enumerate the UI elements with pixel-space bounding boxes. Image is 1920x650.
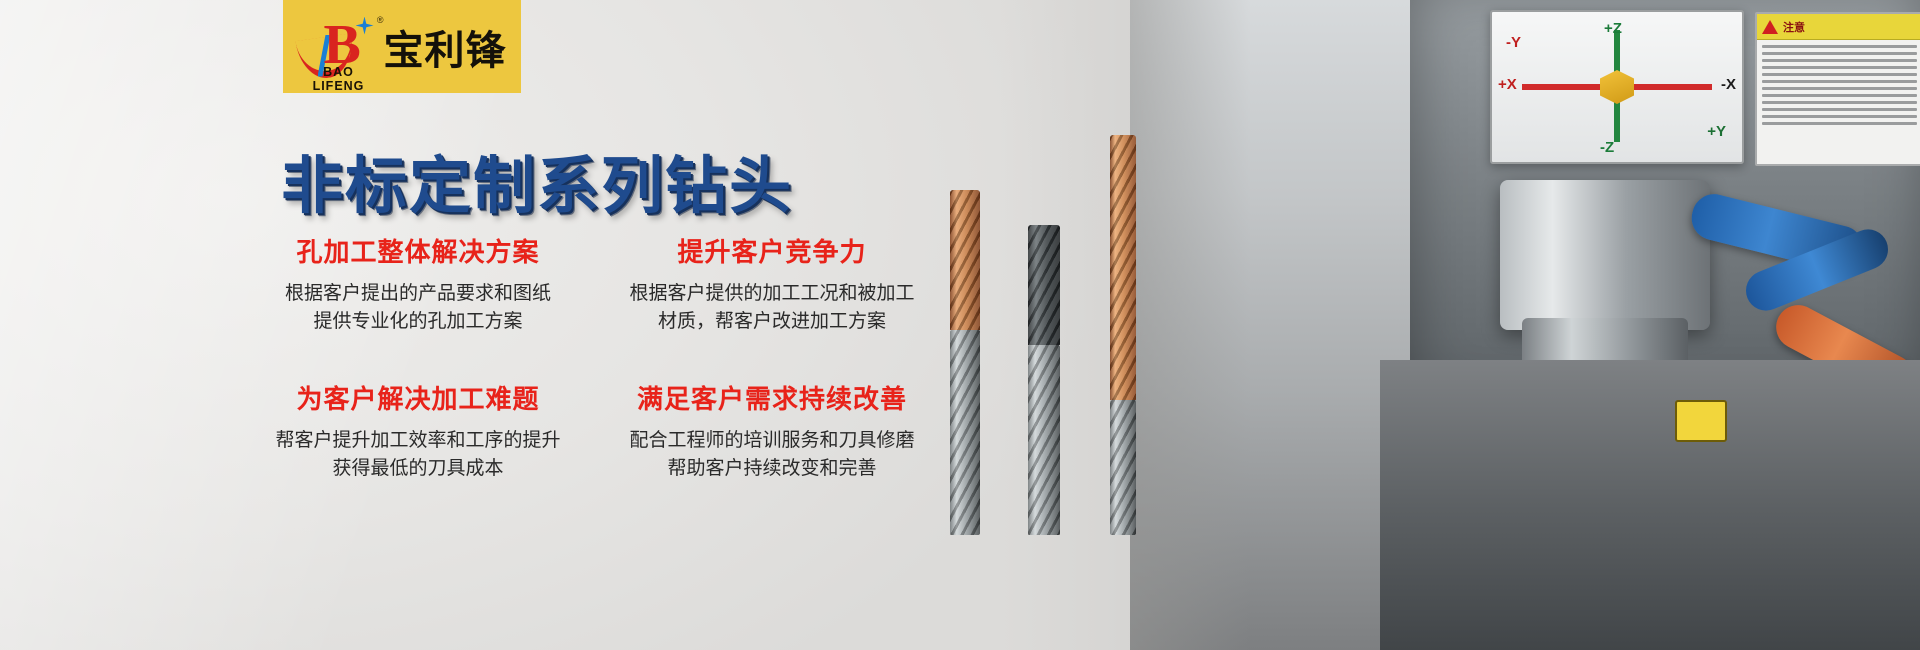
machining-photo: +Z -Z +X -X +Y -Y 注意 [1130, 0, 1920, 650]
feature-body: 配合工程师的培训服务和刀具修磨 帮助客户持续改变和完善 [604, 426, 940, 482]
feature-title: 为客户解决加工难题 [250, 379, 586, 416]
drill-bit-products [950, 95, 1180, 535]
page-title: 非标定制系列钻头 [281, 135, 793, 225]
drill-bit-shank [1028, 345, 1060, 535]
feature-body-line: 帮客户提升加工效率和工序的提升 [250, 426, 586, 454]
logo-mark-icon: B ® BAO LIFENG [298, 15, 376, 79]
feature-block-1: 孔加工整体解决方案 根据客户提出的产品要求和图纸 提供专业化的孔加工方案 [250, 232, 586, 335]
warning-label: 注意 [1783, 19, 1805, 35]
axis-label-x-minus: -X [1721, 76, 1736, 93]
brand-logo[interactable]: B ® BAO LIFENG 宝利锋 [283, 0, 521, 93]
feature-body-line: 根据客户提出的产品要求和图纸 [250, 279, 586, 307]
drill-bit-flute [1110, 135, 1136, 400]
axis-diagram-placard: +Z -Z +X -X +Y -Y [1490, 10, 1744, 164]
feature-block-4: 满足客户需求持续改善 配合工程师的培训服务和刀具修磨 帮助客户持续改变和完善 [604, 379, 940, 482]
feature-body-line: 配合工程师的培训服务和刀具修磨 [604, 426, 940, 454]
hazard-sticker-icon [1675, 400, 1727, 442]
logo-latin-name: BAO LIFENG [300, 65, 378, 93]
feature-body: 根据客户提供的加工工况和被加工 材质，帮客户改进加工方案 [604, 279, 940, 335]
feature-body-line: 获得最低的刀具成本 [250, 454, 586, 482]
axis-label-y-minus: -Y [1506, 34, 1521, 51]
feature-title: 提升客户竞争力 [604, 232, 940, 269]
axis-label-z-minus: -Z [1600, 139, 1614, 156]
product-banner: +Z -Z +X -X +Y -Y 注意 [0, 0, 1920, 650]
spindle-housing [1500, 180, 1710, 330]
drill-bit-flute [1028, 225, 1060, 345]
warning-triangle-icon [1762, 20, 1778, 34]
machine-base [1380, 360, 1920, 650]
feature-title: 满足客户需求持续改善 [604, 379, 940, 416]
drill-bit-flute [950, 190, 980, 330]
axis-label-z-plus: +Z [1604, 20, 1622, 37]
axis-label-y-plus: +Y [1707, 123, 1726, 140]
feature-body: 根据客户提出的产品要求和图纸 提供专业化的孔加工方案 [250, 279, 586, 335]
feature-grid: 孔加工整体解决方案 根据客户提出的产品要求和图纸 提供专业化的孔加工方案 提升客… [250, 232, 940, 482]
logo-chinese-name: 宝利锋 [384, 18, 507, 76]
drill-bit-black [1028, 225, 1060, 535]
feature-body-line: 材质，帮客户改进加工方案 [604, 307, 940, 335]
feature-body-line: 帮助客户持续改变和完善 [604, 454, 940, 482]
drill-bit-copper-short [950, 190, 980, 535]
drill-bit-shank [950, 330, 980, 535]
warning-header: 注意 [1757, 14, 1920, 40]
drill-bit-copper-long [1110, 135, 1136, 535]
drill-bit-shank [1110, 400, 1136, 535]
feature-body: 帮客户提升加工效率和工序的提升 获得最低的刀具成本 [250, 426, 586, 482]
feature-body-line: 根据客户提供的加工工况和被加工 [604, 279, 940, 307]
feature-body-line: 提供专业化的孔加工方案 [250, 307, 586, 335]
axis-label-x-plus: +X [1498, 76, 1517, 93]
registered-trademark-icon: ® [377, 15, 384, 25]
feature-block-2: 提升客户竞争力 根据客户提供的加工工况和被加工 材质，帮客户改进加工方案 [604, 232, 940, 335]
logo-letter: B [324, 19, 361, 71]
axis-hub-icon [1600, 70, 1634, 104]
warning-text-lines [1757, 40, 1920, 134]
warning-placard: 注意 [1755, 12, 1920, 166]
feature-title: 孔加工整体解决方案 [250, 232, 586, 269]
feature-block-3: 为客户解决加工难题 帮客户提升加工效率和工序的提升 获得最低的刀具成本 [250, 379, 586, 482]
